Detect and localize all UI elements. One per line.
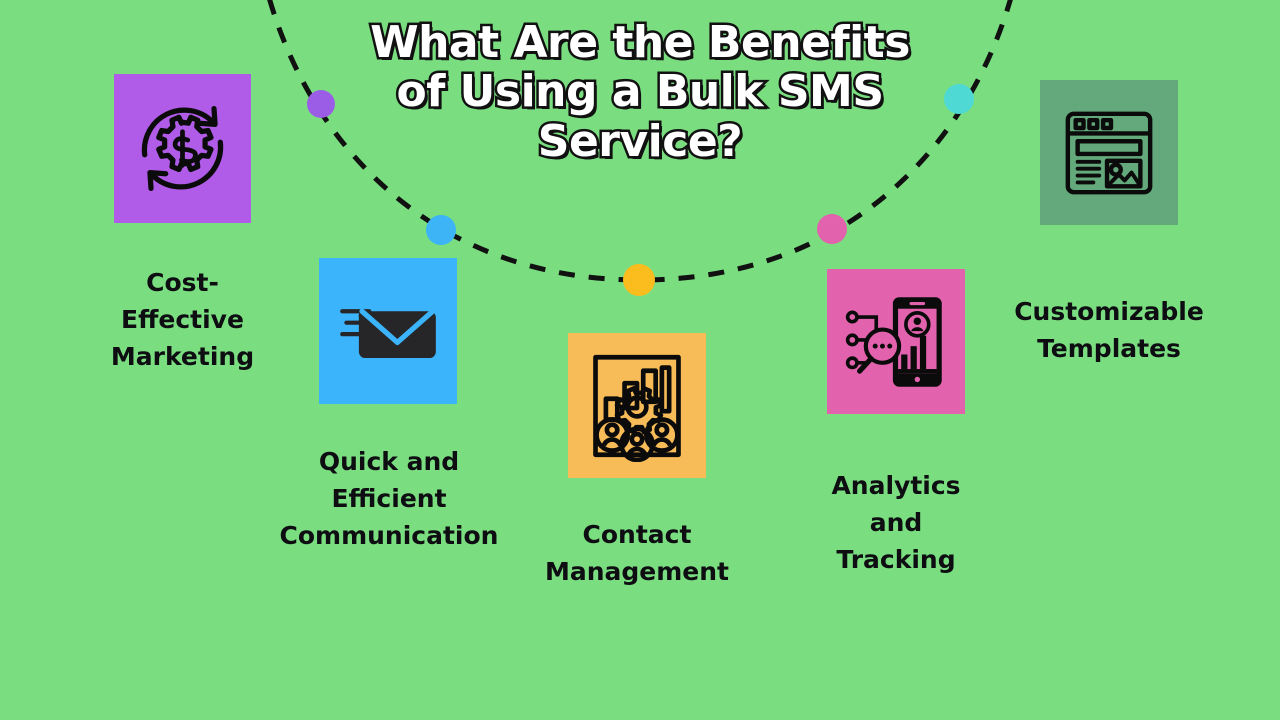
mobile-analytics-search-icon [844,290,948,394]
fast-envelope-icon [336,279,440,383]
benefit-contact-management: Contact Management [568,333,706,478]
money-gear-refresh-icon [130,96,235,201]
benefit-quick-efficient-communication: Quick and Efficient Communication [319,258,457,404]
benefit-label-quick-efficient-communication: Quick and Efficient Communication [265,443,513,554]
dot-purple [307,90,335,118]
icon-tile-customizable-templates[interactable] [1040,80,1178,225]
benefit-label-analytics-and-tracking: Analytics and Tracking [801,467,991,578]
benefit-customizable-templates: Customizable Templates [1040,80,1178,225]
icon-tile-quick-efficient-communication[interactable] [319,258,457,404]
dot-cyan [944,84,974,114]
web-template-layout-icon [1060,104,1158,202]
benefit-label-cost-effective-marketing: Cost- Effective Marketing [85,264,280,375]
infographic-canvas: What Are the Benefits of Using a Bulk SM… [0,0,1280,720]
dot-yellow [623,264,655,296]
icon-tile-analytics-and-tracking[interactable] [827,269,965,414]
dot-pink [817,214,847,244]
dot-blue [426,215,456,245]
contact-report-people-gear-icon [585,350,689,462]
benefit-label-contact-management: Contact Management [515,516,759,590]
benefit-analytics-and-tracking: Analytics and Tracking [827,269,965,414]
benefit-cost-effective-marketing: Cost- Effective Marketing [114,74,251,223]
icon-tile-cost-effective-marketing[interactable] [114,74,251,223]
icon-tile-contact-management[interactable] [568,333,706,478]
page-title: What Are the Benefits of Using a Bulk SM… [370,18,910,166]
benefit-label-customizable-templates: Customizable Templates [1013,293,1205,367]
